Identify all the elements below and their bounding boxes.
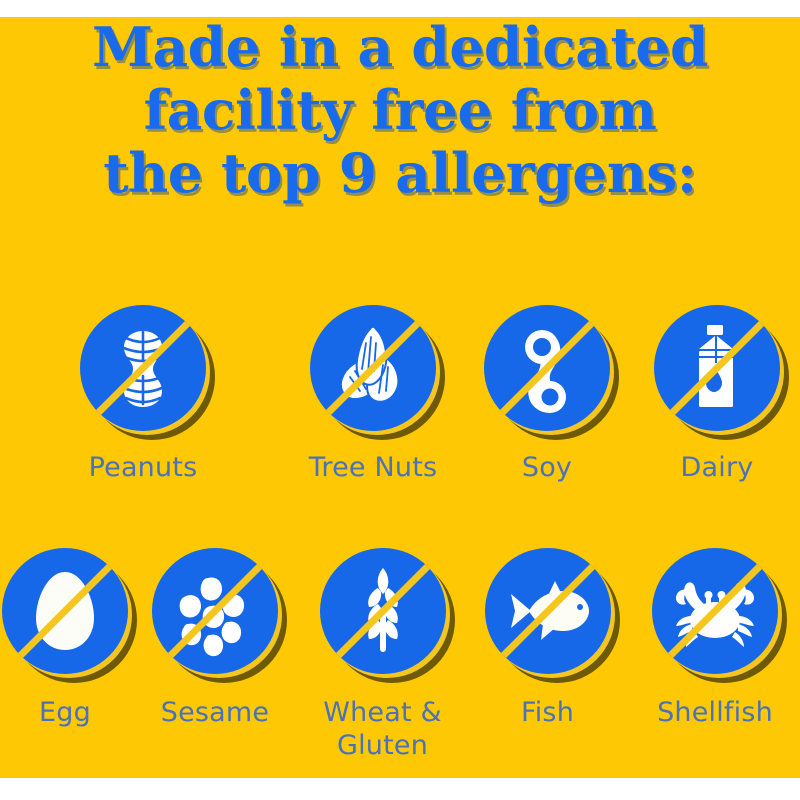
allergen-item-wheat-gluten: Wheat & Gluten — [300, 548, 465, 762]
allergen-item-tree-nuts: Tree Nuts — [286, 305, 460, 484]
badge-disc — [80, 305, 206, 431]
allergen-item-egg: Egg — [0, 548, 130, 762]
almond-icon — [310, 305, 436, 431]
peanut-badge — [80, 305, 206, 431]
shellfish-badge — [652, 548, 778, 674]
allergen-label: Tree Nuts — [309, 451, 438, 484]
egg-icon — [2, 548, 128, 674]
badge-disc — [484, 305, 610, 431]
badge-disc — [485, 548, 611, 674]
soy-badge — [484, 305, 610, 431]
wheat-badge — [320, 548, 446, 674]
badge-disc — [652, 548, 778, 674]
badge-disc — [310, 305, 436, 431]
allergen-item-dairy: Dairy — [634, 305, 800, 484]
allergen-row-bottom: Egg — [0, 548, 800, 762]
sesame-badge — [152, 548, 278, 674]
allergen-item-peanuts: Peanuts — [0, 305, 286, 484]
allergen-item-fish: Fish — [465, 548, 630, 762]
sesame-seeds-icon — [152, 548, 278, 674]
allergen-label: Dairy — [681, 451, 754, 484]
allergen-label: Wheat & Gluten — [323, 696, 442, 762]
soybean-pod-icon — [484, 305, 610, 431]
egg-badge — [2, 548, 128, 674]
fish-icon — [485, 548, 611, 674]
fish-badge — [485, 548, 611, 674]
crab-icon — [652, 548, 778, 674]
allergen-item-shellfish: Shellfish — [630, 548, 800, 762]
allergen-row-top: Peanuts — [0, 305, 800, 484]
badge-disc — [2, 548, 128, 674]
allergen-item-sesame: Sesame — [130, 548, 300, 762]
allergen-label: Peanuts — [89, 451, 198, 484]
allergen-item-soy: Soy — [460, 305, 634, 484]
page-title: Made in a dedicated facility free from t… — [0, 16, 800, 205]
badge-disc — [320, 548, 446, 674]
milk-carton-icon — [654, 305, 780, 431]
allergen-label: Fish — [521, 696, 574, 729]
wheat-stalk-icon — [320, 548, 446, 674]
tree-nut-badge — [310, 305, 436, 431]
badge-disc — [654, 305, 780, 431]
allergen-free-poster: Made in a dedicated facility free from t… — [0, 0, 800, 800]
badge-disc — [152, 548, 278, 674]
dairy-badge — [654, 305, 780, 431]
allergen-label: Egg — [39, 696, 91, 729]
allergen-label: Sesame — [161, 696, 269, 729]
allergen-label: Soy — [522, 451, 572, 484]
allergen-label: Shellfish — [657, 696, 773, 729]
peanut-icon — [80, 305, 206, 431]
